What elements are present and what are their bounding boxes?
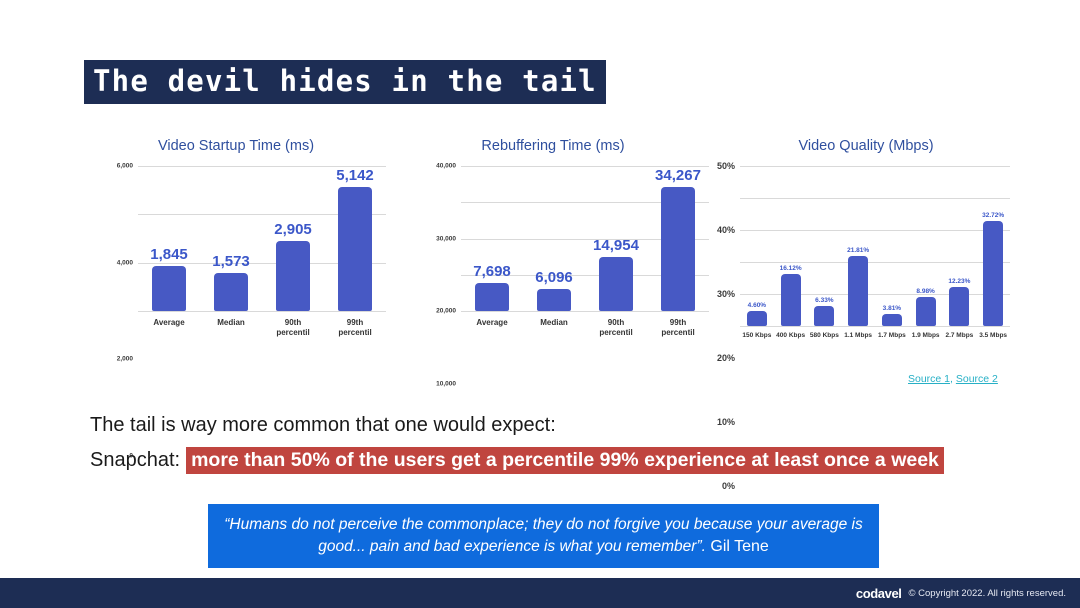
chart-title: Video Quality (Mbps) bbox=[706, 138, 1026, 154]
body-line-1: The tail is way more common that one wou… bbox=[90, 414, 556, 437]
bar bbox=[537, 289, 571, 311]
footer: codavel © Copyright 2022. All rights res… bbox=[0, 578, 1080, 608]
body-line-2: Snapchat: more than 50% of the users get… bbox=[90, 447, 944, 474]
y-axis-tick-label: 0% bbox=[722, 481, 735, 491]
x-axis-tick-label: Average bbox=[476, 318, 507, 328]
bar bbox=[916, 297, 936, 326]
y-axis-tick-label: 4,000 bbox=[117, 259, 133, 266]
source-2-link[interactable]: Source 2 bbox=[956, 373, 998, 385]
bar-value-label: 32.72% bbox=[982, 212, 1004, 219]
bar-value-label: 1,573 bbox=[212, 253, 250, 270]
quote-author: Gil Tene bbox=[710, 538, 768, 555]
copyright-text: © Copyright 2022. All rights reserved. bbox=[909, 588, 1067, 599]
y-axis-tick-label: 40% bbox=[717, 225, 735, 235]
bar-group: 12.23%2.7 Mbps bbox=[943, 166, 977, 326]
bar-group: 34,26799thpercentil bbox=[647, 166, 709, 311]
bar bbox=[338, 187, 372, 311]
body-line-2-prefix: Snapchat: bbox=[90, 449, 180, 472]
x-axis-tick-label: 1.9 Mbps bbox=[912, 332, 940, 339]
y-axis-tick-label: 6,000 bbox=[117, 163, 133, 170]
highlight-statistic: more than 50% of the users get a percent… bbox=[186, 447, 944, 474]
bar-value-label: 6.33% bbox=[815, 297, 833, 304]
bar-value-label: 34,267 bbox=[655, 167, 701, 184]
x-axis-tick-label: 1.7 Mbps bbox=[878, 332, 906, 339]
y-axis-tick-label: 10% bbox=[717, 417, 735, 427]
bar bbox=[747, 311, 767, 326]
plot-area: 010,00020,00030,00040,0007,698Average6,0… bbox=[461, 166, 709, 311]
bar bbox=[983, 221, 1003, 326]
bar-value-label: 6,096 bbox=[535, 269, 573, 286]
y-axis-tick-label: 10,000 bbox=[436, 380, 456, 387]
bar-group: 3.81%1.7 Mbps bbox=[875, 166, 909, 326]
chart-title: Video Startup Time (ms) bbox=[86, 138, 386, 154]
bar bbox=[276, 241, 310, 311]
bar-value-label: 2,905 bbox=[274, 221, 312, 238]
bar-value-label: 21.81% bbox=[847, 247, 869, 254]
sources-separator: , bbox=[950, 373, 953, 385]
bar-group: 4.60%150 Kbps bbox=[740, 166, 774, 326]
bar-group: 7,698Average bbox=[461, 166, 523, 311]
page-title-text: The devil hides in the tail bbox=[84, 60, 606, 104]
bar bbox=[848, 256, 868, 326]
bar bbox=[214, 273, 248, 311]
bar-value-label: 5,142 bbox=[336, 167, 374, 184]
plot-area: 02,0004,0006,0001,845Average1,573Median2… bbox=[138, 166, 386, 311]
bar-value-label: 4.60% bbox=[748, 302, 766, 309]
source-1-link[interactable]: Source 1 bbox=[908, 373, 950, 385]
bar-value-label: 14,954 bbox=[593, 237, 639, 254]
bar-value-label: 12.23% bbox=[948, 278, 970, 285]
bar bbox=[661, 187, 695, 311]
bar bbox=[814, 306, 834, 326]
codavel-logo: codavel bbox=[856, 586, 902, 601]
bar-group: 16.12%400 Kbps bbox=[774, 166, 808, 326]
bar-group: 6,096Median bbox=[523, 166, 585, 311]
x-axis-tick-label: 90thpercentil bbox=[599, 318, 632, 338]
bar-group: 2,90590thpercentil bbox=[262, 166, 324, 311]
chart-title: Rebuffering Time (ms) bbox=[403, 138, 703, 154]
x-axis-tick-label: 580 Kbps bbox=[810, 332, 839, 339]
x-axis-tick-label: 3.5 Mbps bbox=[979, 332, 1007, 339]
x-axis-tick-label: Median bbox=[540, 318, 568, 328]
y-axis-tick-label: 2,000 bbox=[117, 356, 133, 363]
bar-group: 5,14299thpercentil bbox=[324, 166, 386, 311]
x-axis-tick-label: 2.7 Mbps bbox=[945, 332, 973, 339]
gridline: 0% bbox=[740, 326, 1010, 327]
chart-video-startup-time: Video Startup Time (ms) 02,0004,0006,000… bbox=[86, 138, 386, 311]
gridline: 0 bbox=[138, 311, 386, 312]
x-axis-tick-label: 90thpercentil bbox=[276, 318, 309, 338]
bar-value-label: 1,845 bbox=[150, 246, 188, 263]
bar-group: 6.33%580 Kbps bbox=[808, 166, 842, 326]
y-axis-tick-label: 20% bbox=[717, 353, 735, 363]
bar-group: 21.81%1.1 Mbps bbox=[841, 166, 875, 326]
quote-box: “Humans do not perceive the commonplace;… bbox=[208, 504, 879, 568]
x-axis-tick-label: 1.1 Mbps bbox=[844, 332, 872, 339]
bar-value-label: 8.98% bbox=[916, 288, 934, 295]
x-axis-tick-label: 400 Kbps bbox=[776, 332, 805, 339]
bar-value-label: 3.81% bbox=[883, 305, 901, 312]
bar-group: 32.72%3.5 Mbps bbox=[976, 166, 1010, 326]
y-axis-tick-label: 20,000 bbox=[436, 308, 456, 315]
bar-value-label: 7,698 bbox=[473, 263, 511, 280]
gridline: 0 bbox=[461, 311, 709, 312]
bar-group: 14,95490thpercentil bbox=[585, 166, 647, 311]
chart-rebuffering-time: Rebuffering Time (ms) 010,00020,00030,00… bbox=[403, 138, 703, 311]
y-axis-tick-label: 40,000 bbox=[436, 163, 456, 170]
chart-video-quality: Video Quality (Mbps) 0%10%20%30%40%50%4.… bbox=[706, 138, 1026, 326]
plot-area: 0%10%20%30%40%50%4.60%150 Kbps16.12%400 … bbox=[740, 166, 1010, 326]
y-axis-tick-label: 50% bbox=[717, 161, 735, 171]
charts-row: Video Startup Time (ms) 02,0004,0006,000… bbox=[0, 138, 1080, 378]
x-axis-tick-label: 99thpercentil bbox=[661, 318, 694, 338]
y-axis-tick-label: 30,000 bbox=[436, 235, 456, 242]
bar bbox=[475, 283, 509, 311]
bar bbox=[152, 266, 186, 311]
x-axis-tick-label: Average bbox=[153, 318, 184, 328]
slide: The devil hides in the tail Video Startu… bbox=[0, 0, 1080, 608]
y-axis-tick-label: 30% bbox=[717, 289, 735, 299]
bar bbox=[599, 257, 633, 311]
bar bbox=[882, 314, 902, 326]
page-title: The devil hides in the tail bbox=[84, 60, 606, 104]
quote-content: “Humans do not perceive the commonplace;… bbox=[224, 514, 863, 559]
bar-group: 8.98%1.9 Mbps bbox=[909, 166, 943, 326]
bar-value-label: 16.12% bbox=[780, 265, 802, 272]
bar-group: 1,573Median bbox=[200, 166, 262, 311]
sources: Source 1, Source 2 bbox=[908, 373, 998, 385]
x-axis-tick-label: 150 Kbps bbox=[742, 332, 771, 339]
bar bbox=[781, 274, 801, 326]
bar-group: 1,845Average bbox=[138, 166, 200, 311]
x-axis-tick-label: Median bbox=[217, 318, 245, 328]
bar bbox=[949, 287, 969, 326]
x-axis-tick-label: 99thpercentil bbox=[338, 318, 371, 338]
